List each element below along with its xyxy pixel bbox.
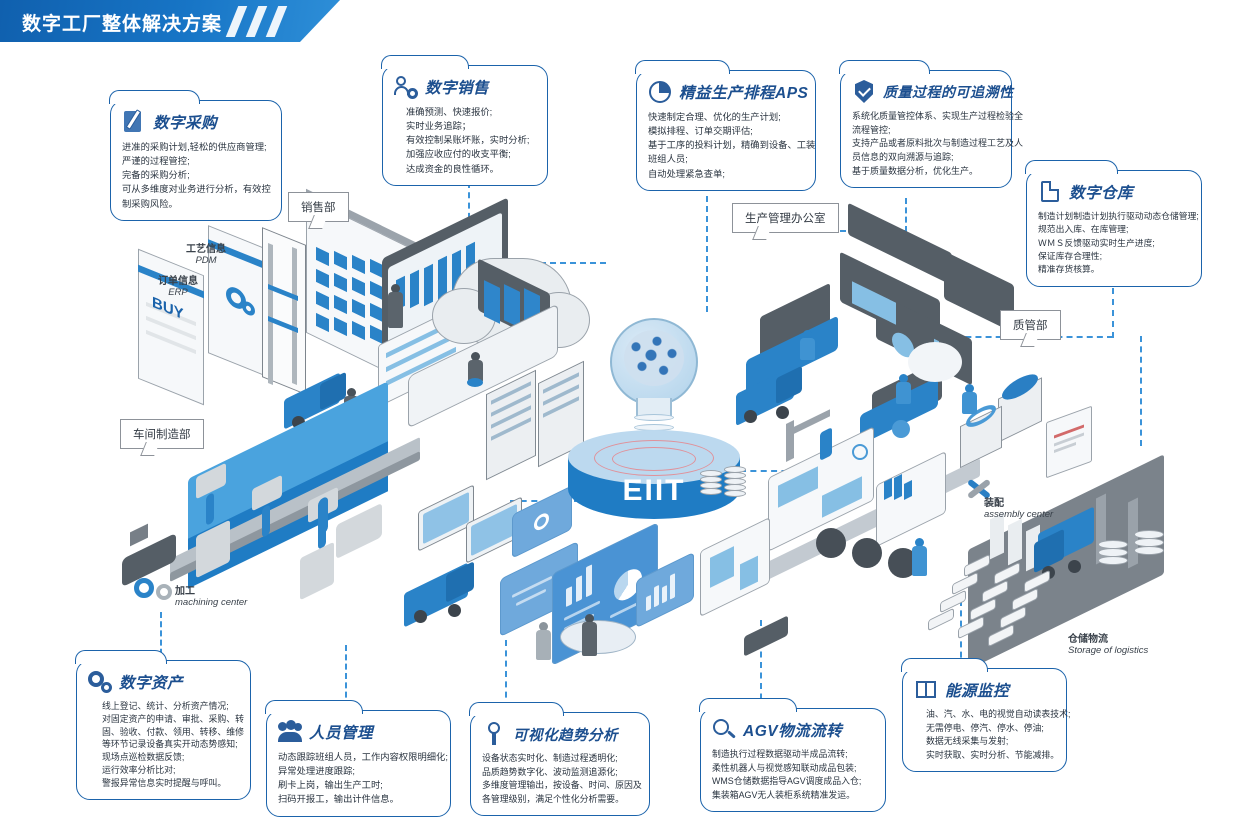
cloud-small	[908, 342, 962, 382]
connector-warehouse	[1112, 288, 1114, 338]
shield-check-icon	[852, 80, 876, 104]
card-agv-logistics[interactable]: AGV物流流转 制造执行过程数据驱动半成品流转; 柔性机器人与视觉感知联动成品包…	[700, 708, 886, 812]
card-line: 系统化质量管控体系、实现生产过程检验全	[852, 110, 1000, 124]
people-icon	[278, 720, 302, 744]
card-line: 动态跟踪班组人员，工作内容权限明细化;	[278, 750, 439, 764]
card-personnel-management[interactable]: 人员管理 动态跟踪班组人员，工作内容权限明细化; 异常处理进度跟踪; 刷卡上岗，…	[266, 710, 451, 817]
card-line: 加强应收应付的收支平衡;	[406, 147, 536, 161]
caption-order-info-en: ERP	[158, 287, 198, 298]
card-body-lean-production-aps: 快速制定合理、优化的生产计划; 模拟排程、订单交期评估; 基于工序的投料计划，精…	[648, 110, 804, 181]
clipboard	[1046, 406, 1092, 479]
caption-order-info-cn: 订单信息	[158, 272, 198, 287]
card-visual-trend-analysis[interactable]: 可视化趋势分析 设备状态实时化、制造过程透明化; 品质趋势数字化、波动监测追源化…	[470, 712, 650, 816]
card-line: 保证库存合理性;	[1038, 250, 1190, 263]
card-line: 自动处理紧急查单;	[648, 167, 804, 181]
card-quality-traceability[interactable]: 质量过程的可追溯性 系统化质量管控体系、实现生产过程检验全 流程管控; 支持产品…	[840, 70, 1012, 188]
card-line: 进准的采购计划,轻松的供应商管理;	[122, 140, 270, 154]
caption-machining: 加工 machining center	[175, 582, 247, 608]
bubble-sales-dept: 销售部	[288, 192, 349, 222]
card-line: 班组人员;	[648, 152, 804, 166]
magnifier-icon	[712, 718, 736, 742]
card-digital-sales[interactable]: 数字销售 准确预测、快速报价; 实时业务追踪； 有效控制呆账坏账，实时分析; 加…	[382, 65, 548, 186]
fan-1	[816, 528, 846, 558]
bubble-sales-dept-label: 销售部	[301, 202, 336, 214]
connector-aps	[706, 196, 708, 312]
card-line: 准确预测、快速报价;	[406, 105, 536, 119]
bubble-production-office: 生产管理办公室	[732, 203, 839, 233]
gear-grey-icon	[156, 584, 172, 600]
bubble-workshop-dept: 车间制造部	[120, 419, 204, 449]
page-icon	[1038, 180, 1062, 204]
card-line: 模拟排程、订单交期评估;	[648, 124, 804, 138]
assembly-machine-2	[876, 451, 946, 547]
card-title-digital-sales: 数字销售	[425, 76, 489, 98]
card-title-personnel-management: 人员管理	[309, 721, 373, 743]
card-line: 支持产品或者原料批次与制造过程工艺及人	[852, 137, 1000, 151]
card-title-visual-trend-analysis: 可视化趋势分析	[513, 724, 618, 745]
card-title-digital-procurement: 数字采购	[153, 111, 217, 133]
battery-icon	[914, 678, 938, 702]
bubble-workshop-dept-label: 车间制造部	[133, 429, 191, 441]
card-lean-production-aps[interactable]: 精益生产排程APS 快速制定合理、优化的生产计划; 模拟排程、订单交期评估; 基…	[636, 70, 816, 191]
card-line: 达成资金的良性循环。	[406, 162, 536, 176]
card-title-agv-logistics: AGV物流流转	[743, 719, 842, 741]
card-line: 集装箱AGV无人装柜系统精准发运。	[712, 789, 874, 803]
card-title-digital-warehouse: 数字仓库	[1069, 181, 1133, 203]
caption-machining-en: machining center	[175, 597, 247, 608]
card-body-personnel-management: 动态跟踪班组人员，工作内容权限明细化; 异常处理进度跟踪; 刷卡上岗，输出生产工…	[278, 750, 439, 807]
card-line: 制采购风险。	[122, 197, 270, 211]
card-title-lean-production-aps: 精益生产排程APS	[679, 81, 808, 103]
card-line: 完备的采购分析;	[122, 168, 270, 182]
card-body-digital-assets: 线上登记、统计、分析资产情况; 对固定资产的申请、审批、采购、转 固、验收、付款…	[88, 700, 239, 790]
card-line: 线上登记、统计、分析资产情况;	[102, 700, 239, 713]
fan-2	[852, 538, 882, 568]
card-line: 运行效率分析比对;	[102, 764, 239, 777]
card-line: 精准存货核算。	[1038, 263, 1190, 276]
wrench-icon	[482, 722, 506, 746]
card-line: 对固定资产的申请、审批、采购、转	[102, 713, 239, 726]
pie-chart-icon	[648, 80, 672, 104]
person-gear-icon	[394, 75, 418, 99]
card-line: ＷＭＳ反馈驱动实时生产进度;	[1038, 237, 1190, 250]
card-line: 刷卡上岗，输出生产工时;	[278, 778, 439, 792]
connector-visual	[505, 640, 507, 708]
card-line: 实时业务追踪；	[406, 119, 536, 133]
caption-assembly: 装配 assembly center	[984, 494, 1053, 520]
card-energy-monitoring[interactable]: 能源监控 油、汽、水、电的视觉自动读表技术; 无需停电、停汽、停水、停油; 数据…	[902, 668, 1067, 772]
card-title-energy-monitoring: 能源监控	[945, 679, 1009, 701]
card-line: 固、验收、付款、领用、转移、维修	[102, 726, 239, 739]
card-digital-procurement[interactable]: 数字采购 进准的采购计划,轻松的供应商管理; 严谨的过程管控; 完备的采购分析;…	[110, 100, 282, 221]
card-title-quality-traceability: 质量过程的可追溯性	[883, 82, 1014, 102]
caption-machining-cn: 加工	[175, 582, 247, 597]
card-line: 制造执行过程数据驱动半成品流转;	[712, 748, 874, 762]
caption-storage: 仓储物流 Storage of logistics	[1068, 630, 1148, 656]
card-line: 数据无线采集与发射;	[926, 735, 1055, 749]
card-line: 扫码开报工，输出计件信息。	[278, 792, 439, 806]
caption-assembly-en: assembly center	[984, 509, 1053, 520]
card-line: 基于质量数据分析，优化生产。	[852, 165, 1000, 179]
gears-icon	[88, 670, 112, 694]
caption-storage-cn: 仓储物流	[1068, 630, 1148, 645]
card-body-quality-traceability: 系统化质量管控体系、实现生产过程检验全 流程管控; 支持产品或者原料批次与制造过…	[852, 110, 1000, 178]
card-line: 异常处理进度跟踪;	[278, 764, 439, 778]
caption-process-info-cn: 工艺信息	[186, 240, 226, 255]
caption-process-info-en: PDM	[186, 255, 226, 266]
card-line: 无需停电、停汽、停水、停油;	[926, 722, 1055, 736]
card-line: 有效控制呆账坏账，实时分析;	[406, 133, 536, 147]
card-line: 员信息的双向溯源与追踪;	[852, 151, 1000, 165]
connector-quality	[905, 198, 907, 232]
card-line: 基于工序的投料计划，精确到设备、工装	[648, 138, 804, 152]
card-line: 柔性机器人与视觉感知联动成品包装;	[712, 762, 874, 776]
gauge-icon	[852, 444, 868, 460]
bubble-production-office-label: 生产管理办公室	[745, 213, 826, 225]
robot-arm-2	[262, 504, 270, 538]
card-line: 各管理级别，满足个性化分析需要。	[482, 793, 638, 807]
card-line: 可从多维度对业务进行分析，有效控	[122, 182, 270, 196]
card-line: 严谨的过程管控;	[122, 154, 270, 168]
connector-personnel	[345, 645, 347, 707]
bubble-quality-dept: 质管部	[1000, 310, 1061, 340]
card-digital-warehouse[interactable]: 数字仓库 制造计划制造计划执行驱动动态仓储管理; 规范出入库、在库管理; ＷＭＳ…	[1026, 170, 1202, 287]
card-line: 流程管控;	[852, 124, 1000, 138]
banner-slashes-decor	[230, 6, 320, 38]
connector-right-down	[1140, 336, 1142, 446]
panel-podium	[560, 620, 636, 654]
indicator-lamp	[892, 420, 910, 438]
caption-process-info: 工艺信息 PDM	[186, 240, 226, 266]
gear-blue-icon	[134, 578, 154, 598]
card-body-digital-procurement: 进准的采购计划,轻松的供应商管理; 严谨的过程管控; 完备的采购分析; 可从多维…	[122, 140, 270, 211]
card-body-digital-sales: 准确预测、快速报价; 实时业务追踪； 有效控制呆账坏账，实时分析; 加强应收应付…	[394, 105, 536, 176]
card-line: 实时获取、实时分析、节能减排。	[926, 749, 1055, 763]
card-title-digital-assets: 数字资产	[119, 671, 183, 693]
caption-storage-en: Storage of logistics	[1068, 645, 1148, 656]
infographic-root: 数字工厂整体解决方案 BUY	[0, 0, 1255, 830]
card-line: 快速制定合理、优化的生产计划;	[648, 110, 804, 124]
caption-assembly-cn: 装配	[984, 494, 1053, 509]
page-title: 数字工厂整体解决方案	[22, 9, 222, 36]
card-line: 等环节记录设备真实开动态势感知;	[102, 738, 239, 751]
card-line: 多维度管理输出，按设备、时间、原因及	[482, 779, 638, 793]
card-digital-assets[interactable]: 数字资产 线上登记、统计、分析资产情况; 对固定资产的申请、审批、采购、转 固、…	[76, 660, 251, 800]
card-line: 规范出入库、在库管理;	[1038, 223, 1190, 236]
card-line: 设备状态实时化、制造过程透明化;	[482, 752, 638, 766]
card-line: 警报异常信息实时提醒与呼叫。	[102, 777, 239, 790]
card-line: WMS仓储数据指导AGV调度成品入仓;	[712, 775, 874, 789]
brain-icon	[624, 330, 684, 386]
card-line: 品质趋势数字化、波动监测追源化;	[482, 766, 638, 780]
bubble-quality-dept-label: 质管部	[1013, 320, 1048, 332]
card-line: 现场点巡检数据反馈;	[102, 751, 239, 764]
agv-robot	[744, 615, 788, 656]
document-pen-icon	[122, 110, 146, 134]
card-body-visual-trend-analysis: 设备状态实时化、制造过程透明化; 品质趋势数字化、波动监测追源化; 多维度管理输…	[482, 752, 638, 806]
card-body-digital-warehouse: 制造计划制造计划执行驱动动态仓储管理; 规范出入库、在库管理; ＷＭＳ反馈驱动实…	[1038, 210, 1190, 277]
card-body-energy-monitoring: 油、汽、水、电的视觉自动读表技术; 无需停电、停汽、停水、停油; 数据无线采集与…	[914, 708, 1055, 762]
robot-arm-1	[206, 492, 214, 526]
card-body-agv-logistics: 制造执行过程数据驱动半成品流转; 柔性机器人与视觉感知联动成品包装; WMS仓储…	[712, 748, 874, 802]
card-line: 油、汽、水、电的视觉自动读表技术;	[926, 708, 1055, 722]
card-line: 制造计划制造计划执行驱动动态仓储管理;	[1038, 210, 1190, 223]
caption-order-info: 订单信息 ERP	[158, 272, 198, 298]
